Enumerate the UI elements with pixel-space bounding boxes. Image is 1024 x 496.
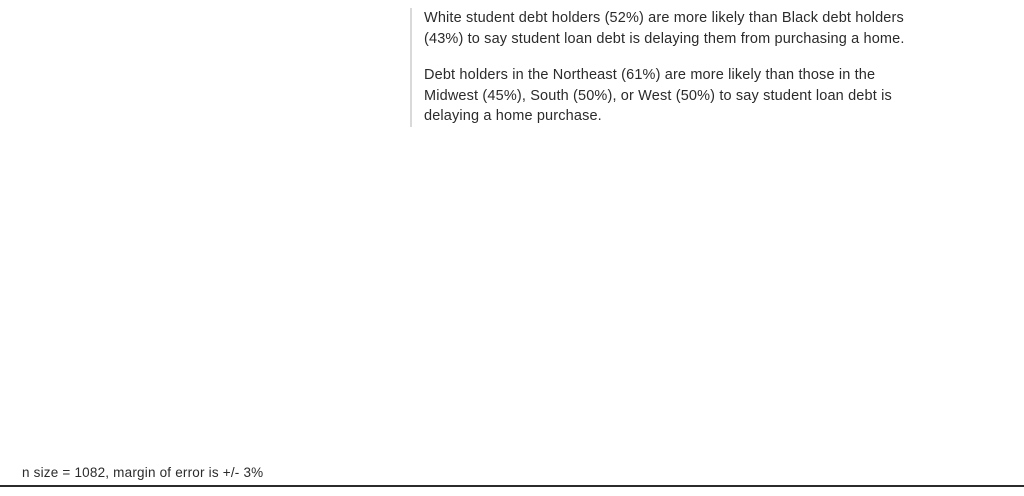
- insight-paragraph-1: White student debt holders (52%) are mor…: [424, 8, 910, 49]
- chart-screenshot: 51% Yes 17% No, student loan debt has ha…: [0, 0, 1024, 496]
- bottom-divider: [0, 485, 1024, 487]
- insight-paragraph-2: Debt holders in the Northeast (61%) are …: [424, 65, 910, 127]
- insight-callout: White student debt holders (52%) are mor…: [410, 8, 910, 127]
- footnote-text: n size = 1082, margin of error is +/- 3%: [22, 465, 263, 480]
